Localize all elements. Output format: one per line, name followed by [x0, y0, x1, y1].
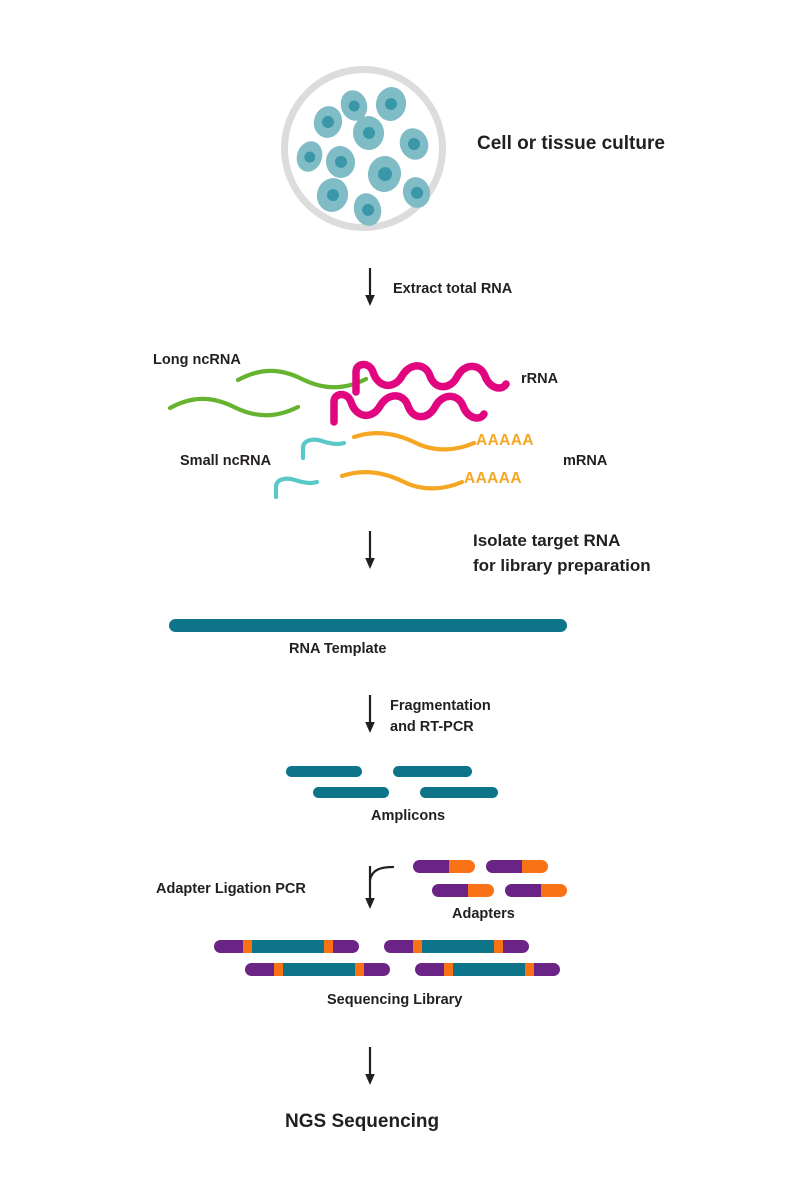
adapter-ligation-label: Adapter Ligation PCR: [156, 881, 306, 898]
long-ncrna-label: Long ncRNA: [153, 352, 241, 369]
library-insert-segment: [283, 963, 356, 976]
adapter: [432, 884, 494, 897]
cell-nucleus: [334, 155, 348, 169]
amplicon: [393, 766, 472, 777]
adapter-orange-segment: [522, 860, 548, 873]
fragmentation-label-line2: and RT-PCR: [390, 719, 474, 736]
isolate-target-rna-label-line1: Isolate target RNA: [473, 531, 620, 551]
adapter-orange-segment: [468, 884, 494, 897]
long-ncrna-strand-lower: [168, 396, 300, 422]
isolate-target-rna-label-line2: for library preparation: [473, 556, 651, 576]
adapter-purple-segment: [505, 884, 541, 897]
sequencing-library-label: Sequencing Library: [327, 992, 462, 1009]
cell-nucleus: [409, 185, 424, 200]
adapter: [413, 860, 475, 873]
library-purple-segment: [503, 940, 529, 953]
adapter-ligation-arrow: [362, 866, 400, 910]
cell: [373, 85, 408, 124]
ngs-arrow: [362, 1047, 384, 1085]
amplicons-label: Amplicons: [371, 808, 445, 825]
cell: [400, 174, 434, 211]
library-insert-segment: [252, 940, 325, 953]
library-purple-segment: [384, 940, 413, 953]
library-purple-segment: [333, 940, 359, 953]
poly-a-tail-lower: AAAAA: [464, 470, 522, 488]
cell-nucleus: [360, 202, 375, 217]
extract-total-rna-label: Extract total RNA: [393, 281, 512, 298]
library-fragment: [214, 940, 359, 953]
mrna-label: mRNA: [563, 453, 607, 470]
adapter-purple-segment: [486, 860, 522, 873]
library-purple-segment: [364, 963, 390, 976]
isolate-arrow: [362, 531, 384, 569]
library-orange-segment: [525, 963, 534, 976]
petri-dish: [281, 66, 446, 231]
adapter-purple-segment: [413, 860, 449, 873]
library-purple-segment: [245, 963, 274, 976]
adapter: [486, 860, 548, 873]
rrna-label: rRNA: [521, 371, 558, 388]
adapters-label: Adapters: [452, 906, 515, 923]
culture-label: Cell or tissue culture: [477, 133, 665, 155]
cell: [313, 174, 352, 215]
cell: [395, 124, 433, 164]
rna-template-bar: [169, 619, 567, 632]
library-insert-segment: [422, 940, 495, 953]
library-fragment: [415, 963, 560, 976]
cell-nucleus: [406, 136, 422, 152]
cell-nucleus: [362, 126, 375, 139]
cell-nucleus: [321, 115, 336, 130]
library-insert-segment: [453, 963, 526, 976]
mrna-strand-lower: [340, 470, 464, 494]
amplicon: [313, 787, 389, 798]
cell: [324, 144, 357, 180]
library-orange-segment: [243, 940, 252, 953]
cell: [293, 138, 326, 175]
library-fragment: [245, 963, 390, 976]
rrna-strand-lower: [330, 388, 488, 426]
library-orange-segment: [494, 940, 503, 953]
adapter-purple-segment: [432, 884, 468, 897]
ngs-sequencing-label: NGS Sequencing: [285, 1111, 439, 1133]
adapter-orange-segment: [449, 860, 475, 873]
cell: [311, 103, 346, 141]
small-ncrna-label: Small ncRNA: [180, 453, 271, 470]
cell-nucleus: [377, 166, 393, 182]
cell: [352, 115, 386, 152]
library-purple-segment: [214, 940, 243, 953]
library-fragment: [384, 940, 529, 953]
adapter-orange-segment: [541, 884, 567, 897]
library-purple-segment: [534, 963, 560, 976]
small-ncrna-strand-lower: [273, 476, 319, 500]
cell-nucleus: [347, 99, 361, 113]
workflow-diagram: Cell or tissue culture Extract total RNA…: [0, 0, 800, 1196]
library-purple-segment: [415, 963, 444, 976]
mrna-strand-upper: [352, 431, 476, 455]
fragmentation-label-line1: Fragmentation: [390, 698, 491, 715]
rna-template-label: RNA Template: [289, 641, 387, 658]
poly-a-tail-upper: AAAAA: [476, 432, 534, 450]
library-orange-segment: [444, 963, 453, 976]
small-ncrna-strand-upper: [300, 437, 346, 461]
extract-arrow: [362, 268, 384, 306]
cell: [350, 190, 385, 229]
amplicon: [286, 766, 362, 777]
cell-nucleus: [303, 150, 317, 164]
library-orange-segment: [274, 963, 283, 976]
adapter: [505, 884, 567, 897]
cell-nucleus: [384, 97, 398, 111]
library-orange-segment: [413, 940, 422, 953]
amplicon: [420, 787, 498, 798]
library-orange-segment: [355, 963, 364, 976]
library-orange-segment: [324, 940, 333, 953]
fragmentation-arrow: [362, 695, 384, 733]
cell: [366, 154, 404, 194]
cell-nucleus: [325, 188, 340, 203]
